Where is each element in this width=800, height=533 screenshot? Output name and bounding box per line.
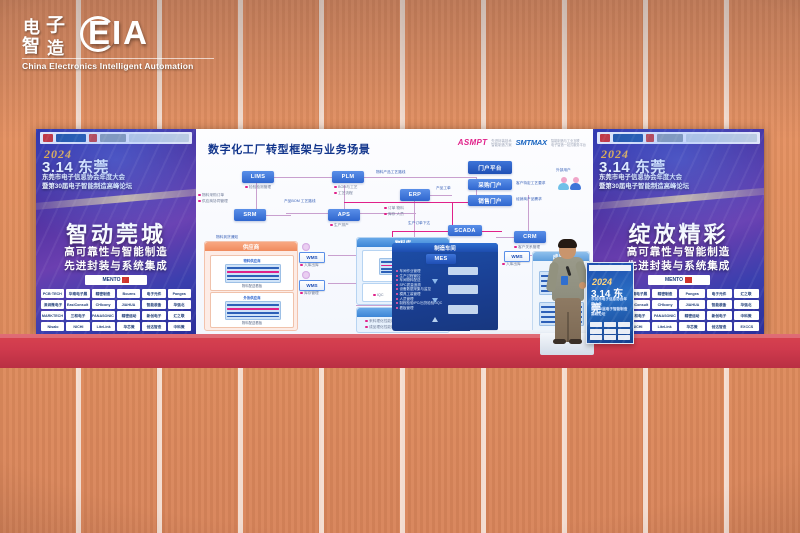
wms-chip-1[interactable]: WMS — [299, 252, 325, 263]
supplier-b-rack-icon — [225, 301, 281, 320]
supplier-b-cap: 物料配送看板 — [211, 320, 293, 325]
partner-mark-icon — [685, 277, 692, 283]
sponsor-logo-label: Bourns — [122, 291, 135, 296]
eia-acronym: EIA — [88, 14, 149, 52]
sponsor-logo: PANASONIC — [652, 311, 677, 320]
caption-plm-2: 工艺流程 — [334, 191, 353, 196]
node-erp[interactable]: ERP — [400, 189, 430, 201]
sponsor-logo: 精密运动 — [679, 311, 704, 320]
sponsor-logo-label: LiteLink — [658, 324, 672, 329]
sponsor-logo: Pangea — [679, 289, 704, 298]
banner-left-subtitle: 东莞市电子信息协会年度大会 暨第30届电子智能制造高峰论坛 — [42, 173, 190, 191]
sponsor-logo: EasiConsult — [66, 300, 89, 309]
seal-char-4: 造 — [47, 34, 64, 59]
sponsor-logo: 电子元件 — [142, 289, 165, 298]
sponsor-logo-label: Pangea — [686, 291, 699, 296]
asmpt-logo-sub: 先进封装技术 智能制造方案 — [491, 139, 511, 147]
smtmax-logo-sub: 智能制造与工业互联 电子智造一站式服务平台 — [551, 139, 586, 147]
logo-chip-gray — [657, 134, 683, 142]
sponsor-logo: Bourns — [117, 289, 140, 298]
factory-architecture-diagram: LIMS 检验检测管理 PLM BOM与工艺 工艺流程 物料产品工艺路线 SRM… — [196, 155, 593, 334]
partner-mark-icon — [122, 277, 129, 283]
node-lims[interactable]: LIMS — [242, 171, 274, 183]
banner-left-date-city: 3.14 东莞 — [42, 156, 109, 177]
node-mes[interactable]: MES — [426, 254, 456, 264]
eia-tagline: China Electronics Intelligent Automation — [22, 58, 214, 71]
sponsor-logo-label: 深圳微电子 — [43, 302, 61, 308]
sponsor-logo-label: 三和电子 — [71, 313, 86, 319]
caption-lims: 检验检测管理 — [245, 185, 271, 190]
logo-chip-small — [129, 134, 189, 142]
eia-logo: 电 子 智 造 EIA China Electronics Intelligen… — [14, 8, 214, 74]
caption-erp-to-mes: 生产订单下达 — [408, 221, 430, 226]
caption-plm-1: BOM与工艺 — [334, 185, 357, 190]
logo-chip-red2 — [646, 134, 654, 142]
sponsor-logo-label: 精密运动 — [121, 313, 136, 319]
logo-chip-red2 — [89, 134, 97, 142]
banner-right-partner-label: MENTO — [665, 277, 683, 283]
caption-wms-2: 库存管理 — [300, 291, 319, 296]
sponsor-logo-label: JIAHUA — [685, 302, 699, 307]
banner-left-light-streak — [36, 185, 196, 211]
caption-srm-2: 供应商协同管理 — [198, 199, 228, 204]
caption-plm-to-erp: 物料产品工艺路线 — [376, 170, 406, 175]
sponsor-logo: 新创电子 — [707, 311, 732, 320]
banner-right-subtitle-1: 东莞市电子信息协会年度大会 — [599, 173, 758, 182]
rollup-year: 2024 — [592, 277, 612, 287]
supplier-b-label: 外协供应商 — [211, 295, 293, 300]
sponsor-logo-label: EXCCS — [740, 324, 753, 329]
sponsor-logo-label: 精密运动 — [685, 313, 700, 319]
presenter-hair — [558, 239, 577, 248]
sponsor-logo-label: CHIcony — [96, 302, 111, 307]
sponsor-logo-label: 中科微 — [741, 313, 752, 319]
sponsor-logo: 深圳微电子 — [41, 300, 64, 309]
presenter-badge — [561, 276, 568, 285]
sponsor-logo: 智能装备 — [707, 300, 732, 309]
seal-char-3: 智 — [22, 32, 40, 58]
sponsor-logo: PANASONIC — [92, 311, 115, 320]
banner-left-sponsor-grid: PCB·TECH华南电子展精密制造Bourns电子元件Pangea深圳微电子Ea… — [41, 289, 191, 331]
sponsor-logo: CHIcony — [652, 300, 677, 309]
banner-left-logo-bar — [40, 132, 192, 144]
caption-wms-3: 入库出库 — [502, 262, 521, 267]
zone-supplier-title: 供应商 — [205, 242, 297, 251]
sponsor-logo: PCB·TECH — [41, 289, 64, 298]
banner-left-hero-sub-1: 高可靠性与智能制造 — [36, 246, 196, 260]
node-crm[interactable]: CRM — [514, 231, 546, 243]
asmpt-logo: ASMPT — [458, 138, 488, 147]
seal-char-2: 子 — [46, 10, 65, 37]
banner-right-subtitle-2: 暨第30届电子智能制造高峰论坛 — [599, 182, 758, 191]
shop-capability-item: 看板管理 — [396, 306, 442, 311]
shop-arrow-up — [432, 317, 438, 322]
sponsor-logo: 汇之联 — [734, 289, 759, 298]
smtmax-sub-2: 电子智造一站式服务平台 — [551, 143, 586, 147]
caption-wms-1: 入库出库 — [300, 263, 319, 268]
sponsor-logo-label: 创达智造 — [147, 324, 162, 330]
sponsor-logo-label: 华强北 — [174, 302, 185, 308]
zone-supplier: 供应商 物料供应商 物料配送看板 外协供应商 物料配送看板 — [204, 241, 298, 331]
rollup-date-city: 3.14 东莞 — [591, 285, 633, 315]
banner-right-partner: MENTO — [648, 275, 710, 285]
sponsor-logo-label: 创达智造 — [712, 324, 727, 330]
caption-erp-2: 库存 人员 — [384, 212, 404, 217]
sponsor-logo-label: CHIcony — [657, 302, 672, 307]
sponsor-logo-label: 华芯微 — [123, 324, 134, 330]
sponsor-logo-label: 精密制造 — [658, 291, 673, 297]
node-portal-sales[interactable]: 销售门户 — [468, 195, 512, 206]
supplier-card-b: 外协供应商 物料配送看板 — [210, 292, 294, 328]
sponsor-logo-label: 精密制造 — [96, 291, 111, 297]
sponsor-logo: 华强北 — [734, 300, 759, 309]
sponsor-logo-label: 新创电子 — [147, 313, 162, 319]
banner-right-hero: 绽放精彩 — [593, 217, 764, 249]
sponsor-logo: 华强北 — [168, 300, 191, 309]
user-avatar-1 — [558, 177, 569, 190]
sponsor-logo: 智能装备 — [142, 300, 165, 309]
wms-chip-2[interactable]: WMS — [299, 280, 325, 291]
banner-right-year: 2024 — [601, 147, 629, 162]
sponsor-logo: Pangea — [168, 289, 191, 298]
sponsor-logo: MARKTECH — [41, 311, 64, 320]
sponsor-logo: 汇之联 — [168, 311, 191, 320]
sponsor-logo: 华南电子展 — [66, 289, 89, 298]
node-plm[interactable]: PLM — [332, 171, 364, 183]
sponsor-logo-label: 新创电子 — [712, 313, 727, 319]
sponsor-logo-label: NICHI — [73, 324, 83, 329]
rollup-subtitle-2: 暨第30届电子智能制造高峰论坛 — [591, 307, 630, 317]
sponsor-logo-label: Pangea — [173, 291, 186, 296]
banner-right-logo-bar — [597, 132, 760, 144]
sponsor-logo-label: EasiConsult — [67, 302, 88, 307]
link-wms2-mat — [328, 283, 358, 284]
sponsor-logo: JIAHUA — [117, 300, 140, 309]
caption-erp-1: 订单 物料 — [384, 206, 404, 211]
banner-left-year: 2024 — [44, 147, 72, 162]
sponsor-logo: 新创电子 — [142, 311, 165, 320]
sponsor-logo-label: PANASONIC — [92, 313, 114, 318]
conference-photo-scene: 电 子 智 造 EIA China Electronics Intelligen… — [0, 0, 800, 533]
led-screen: 2024 3.14 东莞 东莞市电子信息协会年度大会 暨第30届电子智能制造高峰… — [36, 129, 764, 334]
link-lims-plm — [274, 177, 334, 178]
caption-supplier-in: 物料到货通知 — [216, 235, 238, 240]
sponsor-logo-label: 智能装备 — [712, 302, 727, 308]
logo-chip-red — [600, 134, 610, 142]
shop-plan-bar — [448, 267, 478, 275]
banner-right-date-city: 3.14 东莞 — [599, 156, 666, 177]
sponsor-logo-label: 电子元件 — [712, 291, 727, 297]
banner-left-partner-label: MENTO — [103, 277, 121, 283]
caption-portal-2: 经销商产品需求 — [516, 197, 542, 202]
calligraphy-seal-icon: 电 子 智 造 — [22, 12, 84, 60]
sponsor-logo-label: 电子元件 — [147, 291, 162, 297]
smtmax-logo: SMTMAX — [516, 138, 547, 147]
banner-left-hero-sub-2: 先进封装与系统集成 — [36, 260, 196, 274]
node-aps[interactable]: APS — [328, 209, 360, 221]
sponsor-logo-label: LiteLink — [96, 324, 110, 329]
caption-iqc: IQC — [373, 293, 384, 298]
external-users-icon — [558, 177, 581, 190]
supplier-card-a: 物料供应商 物料配送看板 — [210, 255, 294, 291]
banner-left-partner: MENTO — [85, 275, 147, 285]
gear-icon-1 — [302, 243, 310, 251]
zone-manufacturing-shop: 制造车间 MES 车间作业管理生产过程管控车间物料配送SPC质量追溯设备数据采集… — [392, 243, 498, 331]
sponsor-logo-label: Nisalo — [47, 324, 58, 329]
logo-chip-blue — [56, 134, 86, 142]
sponsor-logo-label: 汇之联 — [741, 291, 752, 297]
sponsor-logo-label: NICHI — [633, 324, 643, 329]
zone-shop-title: 制造车间 — [392, 243, 498, 252]
shop-finished-bar — [448, 305, 478, 314]
node-portal[interactable]: 门户平台 — [468, 161, 512, 174]
slide-logo-group: ASMPT 先进封装技术 智能制造方案 SMTMAX 智能制造与工业互联 电子智… — [458, 138, 586, 147]
caption-srm-to-aps: 产品BOM 工艺路线 — [284, 199, 316, 204]
banner-left: 2024 3.14 东莞 东莞市电子信息协会年度大会 暨第30届电子智能制造高峰… — [36, 129, 196, 334]
sponsor-logo: 精密制造 — [92, 289, 115, 298]
sponsor-logo-label: 华强北 — [741, 302, 752, 308]
sponsor-logo-label: 华芯微 — [687, 324, 698, 330]
sponsor-logo: 中科微 — [734, 311, 759, 320]
node-portal-purchase[interactable]: 采购门户 — [468, 179, 512, 190]
sponsor-logo-label: 智能装备 — [147, 302, 162, 308]
wms-chip-3[interactable]: WMS — [504, 251, 530, 262]
sponsor-logo-label: JIAHUA — [122, 302, 136, 307]
link-plm-right — [364, 177, 476, 178]
rollup-subtitle: 东莞市电子信息协会年度大会 暨第30届电子智能制造高峰论坛 — [591, 297, 630, 317]
caption-aps: 生产排产 — [330, 223, 349, 228]
shop-arrow-down-2 — [432, 298, 438, 303]
rollup-logo-bar — [589, 265, 631, 271]
banner-right-hero-sub-1: 高可靠性与智能制造 — [593, 246, 764, 260]
node-scada[interactable]: SCADA — [448, 225, 482, 236]
gear-icon-2 — [302, 271, 310, 279]
banner-right-light-streak — [593, 185, 764, 211]
rollup-subtitle-1: 东莞市电子信息协会年度大会 — [591, 297, 630, 307]
sponsor-logo: 精密运动 — [117, 311, 140, 320]
sponsor-logo: 精密制造 — [652, 289, 677, 298]
flow-pink-top — [344, 202, 476, 203]
sponsor-logo: CHIcony — [92, 300, 115, 309]
shop-semi-bar — [448, 285, 478, 294]
supplier-a-label: 物料供应商 — [211, 258, 293, 263]
shop-capability-list: 车间作业管理生产过程管控车间物料配送SPC质量追溯设备数据采集与监控模具工装管理… — [396, 269, 442, 310]
shop-arrow-down-1 — [432, 279, 438, 284]
presentation-slide: 数字化工厂转型框架与业务场景 ASMPT 先进封装技术 智能制造方案 SMTMA… — [196, 129, 593, 334]
sponsor-logo: JIAHUA — [679, 300, 704, 309]
link-wms-mat — [328, 255, 358, 256]
node-srm[interactable]: SRM — [234, 209, 266, 221]
user-avatar-2 — [570, 177, 581, 190]
caption-crm: 客户关系管理 — [514, 245, 540, 250]
sponsor-logo: 三和电子 — [66, 311, 89, 320]
logo-chip-blue — [613, 134, 643, 142]
caption-srm-1: 物料采购订单 — [198, 193, 224, 198]
sponsor-logo-label: 中科微 — [174, 324, 185, 330]
caption-portal-1: 客户特定工艺要求 — [516, 181, 546, 186]
audience-area — [0, 330, 800, 533]
banner-left-hero-sub: 高可靠性与智能制造 先进封装与系统集成 — [36, 246, 196, 274]
logo-chip-gray — [100, 134, 126, 142]
asmpt-sub-2: 智能制造方案 — [491, 143, 511, 147]
supplier-a-rack-icon — [225, 264, 281, 283]
sponsor-logo-label: 汇之联 — [174, 313, 185, 319]
banner-right-subtitle: 东莞市电子信息协会年度大会 暨第30届电子智能制造高峰论坛 — [599, 173, 758, 191]
asmpt-sub-1: 先进封装技术 — [491, 139, 511, 143]
sponsor-logo-label: MARKTECH — [42, 313, 63, 318]
sponsor-logo-label: 华南电子展 — [69, 291, 87, 297]
caption-erp-to-portal: 产品工单 — [436, 186, 451, 191]
logo-chip-red — [43, 134, 53, 142]
flow-pink-mes — [392, 231, 502, 232]
sponsor-logo-label: PCB·TECH — [43, 291, 62, 296]
sponsor-logo: 电子元件 — [707, 289, 732, 298]
banner-left-subtitle-2: 暨第30届电子智能制造高峰论坛 — [42, 182, 190, 191]
supplier-a-cap: 物料配送看板 — [211, 283, 293, 288]
banner-left-subtitle-1: 东莞市电子信息协会年度大会 — [42, 173, 190, 182]
presenter-hand — [579, 282, 586, 289]
banner-left-hero: 智动莞城 — [36, 217, 196, 249]
logo-chip-small — [686, 134, 757, 142]
sponsor-logo-label: PANASONIC — [654, 313, 676, 318]
caption-external-users: 外部用户 — [556, 168, 571, 173]
